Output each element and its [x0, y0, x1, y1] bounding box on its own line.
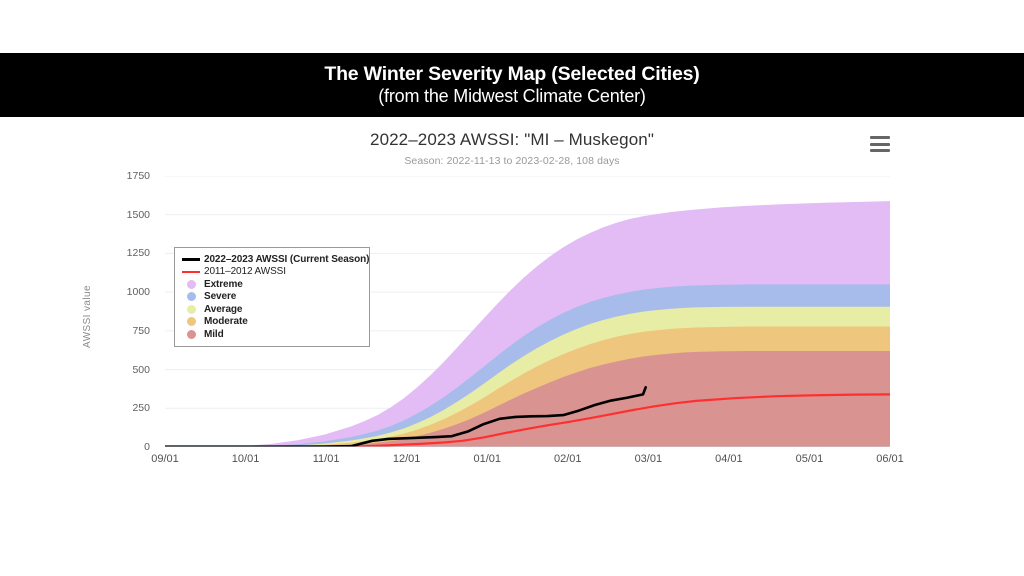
- legend-item-label: Moderate: [201, 316, 248, 327]
- legend-item-label: Mild: [201, 329, 224, 340]
- y-axis: AWSSI value 02505007501000125015001750: [90, 176, 150, 447]
- legend-swatch: [187, 305, 196, 314]
- page-banner: The Winter Severity Map (Selected Cities…: [0, 53, 1024, 117]
- legend-dot-swatch: [181, 305, 201, 314]
- hamburger-menu-icon[interactable]: [870, 134, 892, 154]
- x-axis-tick-label: 04/01: [715, 453, 743, 465]
- chart-container[interactable]: 2022–2023 AWSSI: "MI – Muskegon" Season:…: [0, 117, 1024, 537]
- y-axis-tick-label: 0: [90, 441, 150, 453]
- legend-swatch: [187, 292, 196, 301]
- y-axis-tick-label: 750: [90, 325, 150, 337]
- chart-legend[interactable]: 2022–2023 AWSSI (Current Season)2011–201…: [174, 247, 370, 347]
- y-axis-tick-label: 1500: [90, 209, 150, 221]
- legend-item-label: 2022–2023 AWSSI (Current Season): [201, 254, 369, 265]
- x-axis-tick-label: 02/01: [554, 453, 582, 465]
- legend-item-2011-2012-awssi[interactable]: 2011–2012 AWSSI: [181, 266, 363, 278]
- app-root: The Winter Severity Map (Selected Cities…: [0, 0, 1024, 576]
- legend-line-swatch: [181, 271, 201, 273]
- y-axis-tick-label: 1000: [90, 286, 150, 298]
- legend-item-extreme[interactable]: Extreme: [181, 278, 363, 290]
- x-axis-tick-label: 06/01: [876, 453, 904, 465]
- legend-dot-swatch: [181, 280, 201, 289]
- banner-title-line1: The Winter Severity Map (Selected Cities…: [324, 64, 699, 86]
- menu-bar-2: [870, 143, 890, 146]
- x-axis-tick-label: 09/01: [151, 453, 179, 465]
- legend-item-severe[interactable]: Severe: [181, 291, 363, 303]
- legend-item-2022-2023-awssi-current-season[interactable]: 2022–2023 AWSSI (Current Season): [181, 253, 363, 265]
- y-axis-tick-label: 1250: [90, 247, 150, 259]
- x-axis: 09/0110/0111/0112/0101/0102/0103/0104/01…: [165, 453, 890, 471]
- legend-item-average[interactable]: Average: [181, 303, 363, 315]
- legend-item-label: Severe: [201, 291, 236, 302]
- legend-item-label: Average: [201, 304, 242, 315]
- x-axis-tick-label: 12/01: [393, 453, 421, 465]
- x-axis-tick-label: 01/01: [473, 453, 501, 465]
- menu-bar-1: [870, 136, 890, 139]
- legend-swatch: [182, 271, 200, 273]
- legend-swatch: [187, 280, 196, 289]
- legend-swatch: [187, 317, 196, 326]
- legend-dot-swatch: [181, 330, 201, 339]
- menu-bar-3: [870, 149, 890, 152]
- x-axis-tick-label: 11/01: [313, 453, 340, 465]
- legend-line-swatch: [181, 258, 201, 261]
- x-axis-tick-label: 03/01: [635, 453, 663, 465]
- legend-swatch: [187, 330, 196, 339]
- x-axis-tick-label: 10/01: [232, 453, 260, 465]
- legend-dot-swatch: [181, 317, 201, 326]
- y-axis-tick-label: 500: [90, 364, 150, 376]
- legend-item-mild[interactable]: Mild: [181, 328, 363, 340]
- legend-swatch: [182, 258, 200, 261]
- y-axis-tick-label: 250: [90, 402, 150, 414]
- legend-item-label: Extreme: [201, 279, 243, 290]
- banner-title-line2: (from the Midwest Climate Center): [378, 86, 645, 106]
- y-axis-tick-label: 1750: [90, 170, 150, 182]
- legend-item-label: 2011–2012 AWSSI: [201, 266, 286, 277]
- legend-dot-swatch: [181, 292, 201, 301]
- legend-item-moderate[interactable]: Moderate: [181, 316, 363, 328]
- x-axis-tick-label: 05/01: [796, 453, 824, 465]
- chart-subtitle: Season: 2022-11-13 to 2023-02-28, 108 da…: [0, 155, 1024, 167]
